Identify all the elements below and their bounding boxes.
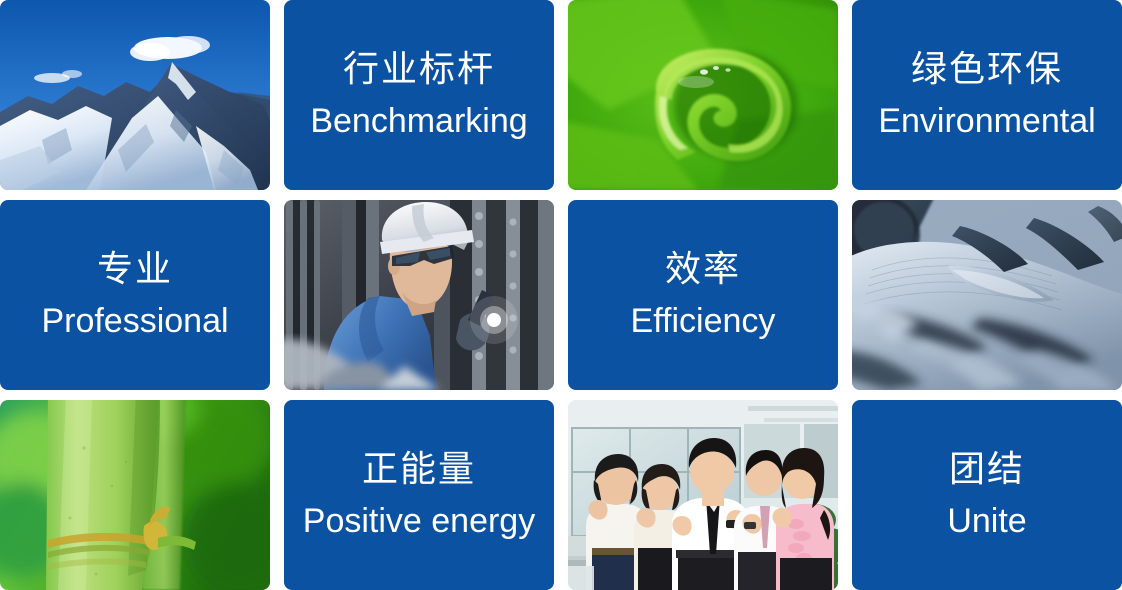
tile-positive-energy-en: Positive energy [303, 504, 535, 540]
turbine-blades-macro-photo [852, 200, 1122, 390]
values-grid: 行业标杆 Benchmarking [0, 0, 1122, 590]
tile-environmental-cn: 绿色环保 [911, 50, 1063, 88]
tile-efficiency-cn: 效率 [665, 250, 741, 288]
tile-environmental[interactable]: 绿色环保 Environmental [852, 0, 1122, 190]
tile-unite[interactable]: 团结 Unite [852, 400, 1122, 590]
tile-efficiency-en: Efficiency [631, 304, 776, 340]
tile-efficiency[interactable]: 效率 Efficiency [568, 200, 838, 390]
tile-environmental-en: Environmental [878, 104, 1095, 140]
tile-snow-mountain[interactable] [0, 0, 270, 190]
business-team-photo [568, 400, 838, 590]
tile-positive-energy-cn: 正能量 [362, 450, 476, 488]
engineer-turbine-photo [284, 200, 554, 390]
tile-professional-cn: 专业 [97, 250, 173, 288]
tile-positive-energy[interactable]: 正能量 Positive energy [284, 400, 554, 590]
tile-unite-cn: 团结 [949, 450, 1025, 488]
tile-benchmarking-cn: 行业标杆 [343, 50, 495, 88]
bamboo-stalk-photo [0, 400, 270, 590]
tile-bamboo[interactable] [0, 400, 270, 590]
tile-benchmarking[interactable]: 行业标杆 Benchmarking [284, 0, 554, 190]
snow-mountain-photo [0, 0, 270, 190]
tile-green-leaf[interactable] [568, 0, 838, 190]
tile-turbine-macro[interactable] [852, 200, 1122, 390]
tile-benchmarking-en: Benchmarking [310, 104, 527, 140]
green-leaf-spiral-photo [568, 0, 838, 190]
tile-business-team[interactable] [568, 400, 838, 590]
tile-engineer[interactable] [284, 200, 554, 390]
tile-unite-en: Unite [947, 504, 1026, 540]
tile-professional[interactable]: 专业 Professional [0, 200, 270, 390]
tile-professional-en: Professional [41, 304, 228, 340]
